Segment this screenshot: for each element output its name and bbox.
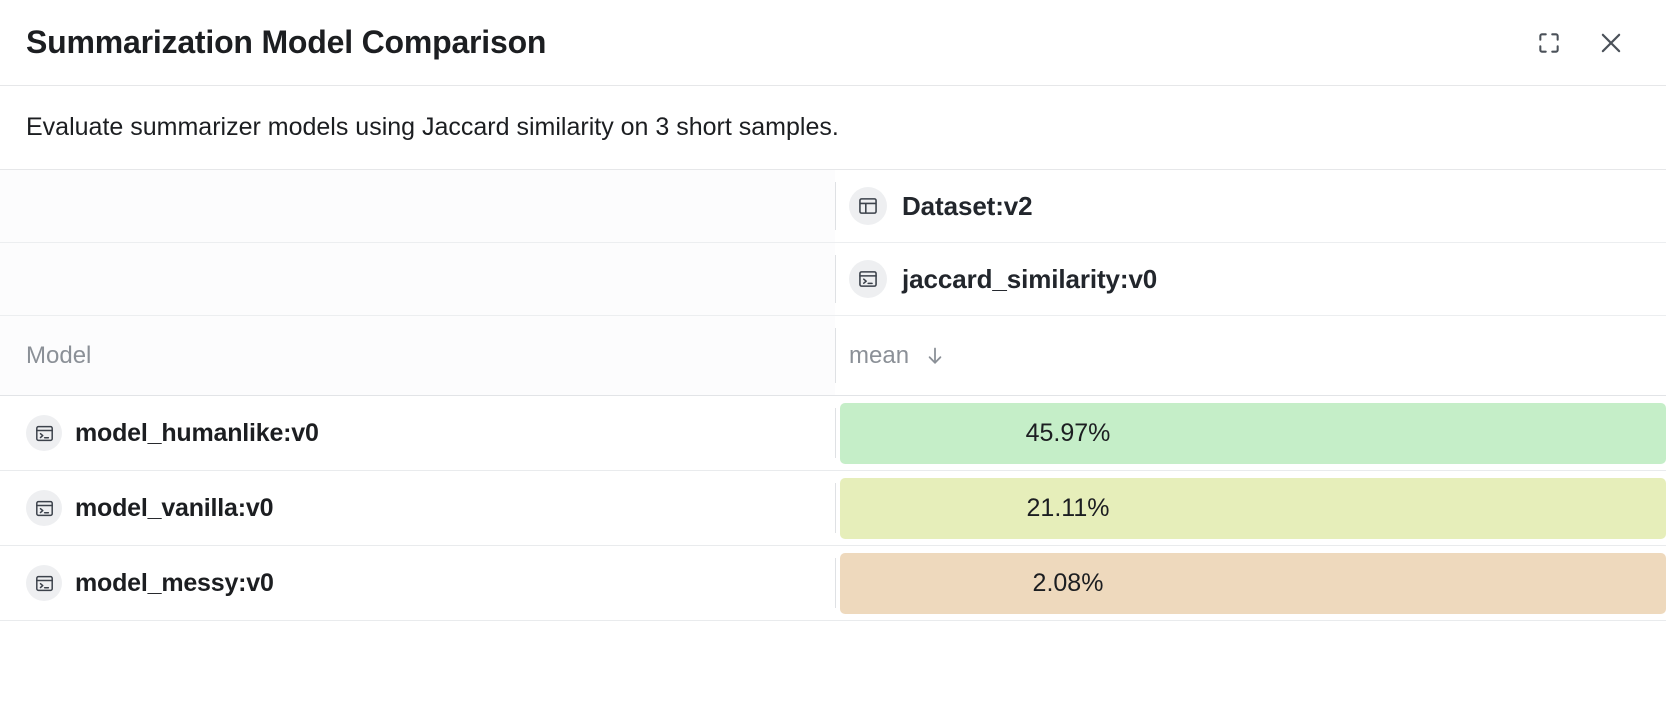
- model-comparison-panel: Summarization Model Comparison Evaluate …: [0, 0, 1666, 712]
- dataset-label: Dataset:v2: [902, 191, 1033, 222]
- column-header-row: Model mean: [0, 316, 1666, 396]
- metric-bar: 21.11%: [840, 478, 1666, 539]
- model-cell-wrap: model_vanilla:v0: [0, 471, 835, 545]
- scorer-header-row: jaccard_similarity:v0: [0, 243, 1666, 316]
- dataset-header-left-spacer: [0, 170, 835, 242]
- dataset-table-icon: [849, 187, 887, 225]
- table-empty-space: [0, 621, 1666, 712]
- expand-fullscreen-icon[interactable]: [1532, 26, 1566, 60]
- comparison-table: Dataset:v2 jaccard_similari: [0, 170, 1666, 712]
- model-cell[interactable]: model_messy:v0: [26, 565, 274, 601]
- metric-sort-control[interactable]: mean: [840, 342, 947, 370]
- model-terminal-icon: [26, 565, 62, 601]
- metric-column-label: mean: [849, 342, 909, 370]
- model-cell-wrap: model_humanlike:v0: [0, 396, 835, 470]
- titlebar-actions: [1532, 26, 1642, 60]
- page-title: Summarization Model Comparison: [26, 24, 546, 61]
- table-row[interactable]: model_vanilla:v0 21.11%: [0, 471, 1666, 546]
- arrow-down-icon[interactable]: [923, 344, 947, 368]
- metric-cell[interactable]: 2.08%: [835, 546, 1666, 620]
- scorer-chip[interactable]: jaccard_similarity:v0: [840, 260, 1157, 298]
- model-terminal-icon: [26, 490, 62, 526]
- table-row[interactable]: model_humanlike:v0 45.97%: [0, 396, 1666, 471]
- table-row[interactable]: model_messy:v0 2.08%: [0, 546, 1666, 621]
- dataset-chip[interactable]: Dataset:v2: [840, 187, 1033, 225]
- scorer-terminal-icon: [849, 260, 887, 298]
- model-name: model_humanlike:v0: [75, 419, 319, 448]
- metric-value: 21.11%: [1027, 494, 1110, 523]
- model-name: model_vanilla:v0: [75, 494, 273, 523]
- model-cell[interactable]: model_humanlike:v0: [26, 415, 319, 451]
- metric-column-header[interactable]: mean: [835, 316, 1666, 395]
- model-terminal-icon: [26, 415, 62, 451]
- model-name: model_messy:v0: [75, 569, 274, 598]
- metric-value: 2.08%: [1033, 569, 1104, 598]
- dataset-header-row: Dataset:v2: [0, 170, 1666, 243]
- metric-cell[interactable]: 45.97%: [835, 396, 1666, 470]
- description-row: Evaluate summarizer models using Jaccard…: [0, 86, 1666, 170]
- dataset-header-cell[interactable]: Dataset:v2: [835, 170, 1666, 242]
- model-cell[interactable]: model_vanilla:v0: [26, 490, 273, 526]
- description-text: Evaluate summarizer models using Jaccard…: [26, 113, 839, 142]
- metric-cell[interactable]: 21.11%: [835, 471, 1666, 545]
- close-icon[interactable]: [1594, 26, 1628, 60]
- model-column-label: Model: [26, 342, 91, 370]
- scorer-label: jaccard_similarity:v0: [902, 264, 1157, 295]
- scorer-header-cell[interactable]: jaccard_similarity:v0: [835, 243, 1666, 315]
- metric-bar: 2.08%: [840, 553, 1666, 614]
- model-column-header: Model: [0, 316, 835, 395]
- titlebar: Summarization Model Comparison: [0, 0, 1666, 86]
- metric-value: 45.97%: [1026, 419, 1111, 448]
- model-cell-wrap: model_messy:v0: [0, 546, 835, 620]
- metric-bar: 45.97%: [840, 403, 1666, 464]
- scorer-header-left-spacer: [0, 243, 835, 315]
